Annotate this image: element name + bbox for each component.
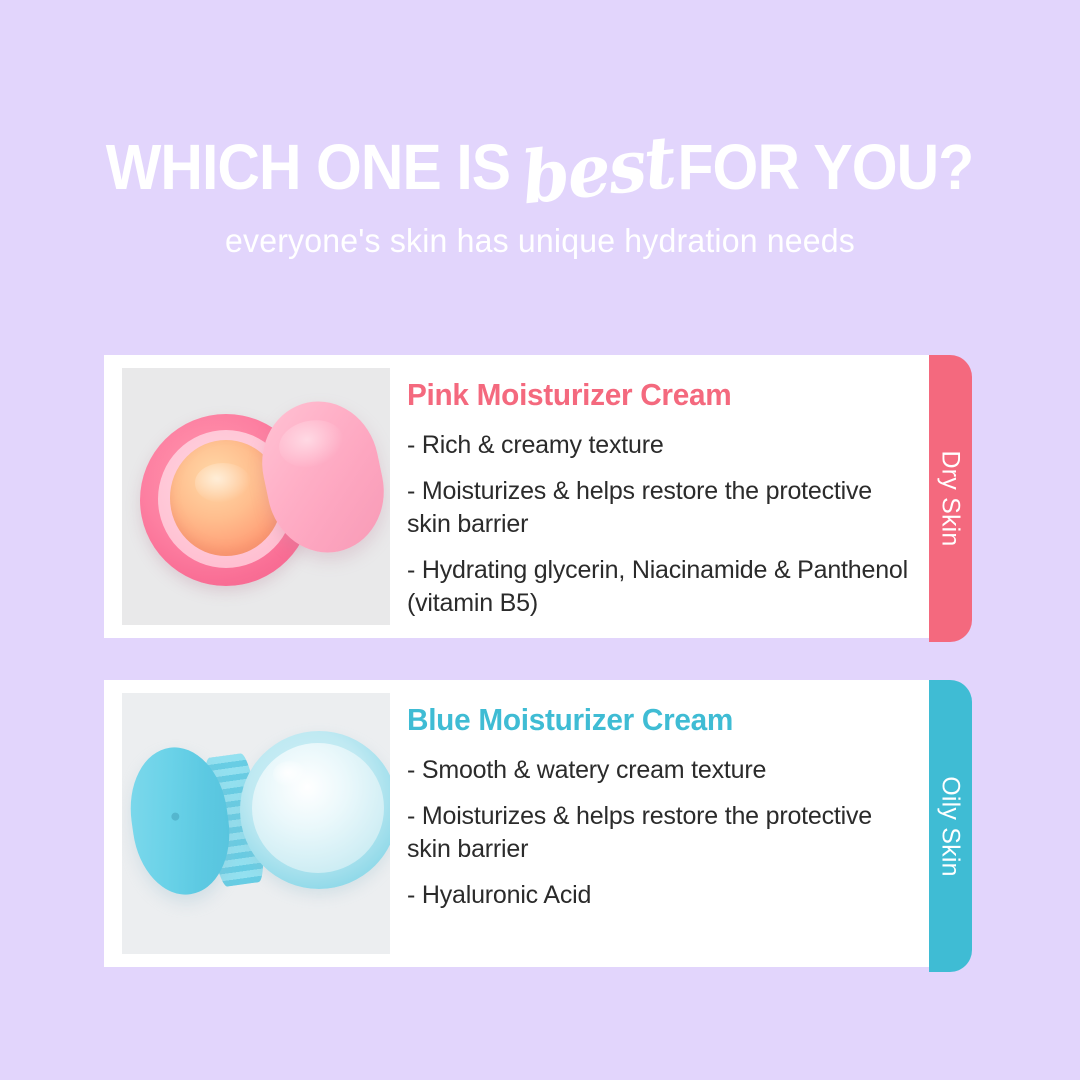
skin-type-tab-oily[interactable]: Oily Skin xyxy=(929,680,972,972)
product-bullet: - Rich & creamy texture xyxy=(407,429,911,462)
skin-type-tab-label: Oily Skin xyxy=(936,776,965,876)
product-bullet: - Moisturizes & helps restore the protec… xyxy=(407,800,911,866)
product-photo-blue xyxy=(122,693,390,954)
card-body-pink: Pink Moisturizer Cream - Rich & creamy t… xyxy=(390,355,929,633)
headline-script-word: best xyxy=(519,126,677,215)
headline-part-1: WHICH ONE IS xyxy=(106,135,510,199)
card-body-blue: Blue Moisturizer Cream - Smooth & watery… xyxy=(390,680,929,925)
product-bullet: - Moisturizes & helps restore the protec… xyxy=(407,475,911,541)
product-title-blue: Blue Moisturizer Cream xyxy=(407,702,891,738)
blue-jar-gel xyxy=(252,743,384,873)
pink-jar-illustration xyxy=(122,368,390,625)
blue-jar-illustration xyxy=(122,693,390,954)
product-bullet: - Hydrating glycerin, Niacinamide & Pant… xyxy=(407,554,911,620)
product-card-pink[interactable]: Pink Moisturizer Cream - Rich & creamy t… xyxy=(104,355,929,638)
product-title-pink: Pink Moisturizer Cream xyxy=(407,377,891,413)
product-bullet: - Smooth & watery cream texture xyxy=(407,754,911,787)
header: WHICH ONE ISbestFOR YOU? everyone's skin… xyxy=(0,128,1080,260)
product-card-blue[interactable]: Blue Moisturizer Cream - Smooth & watery… xyxy=(104,680,929,967)
product-bullet: - Hyaluronic Acid xyxy=(407,879,911,912)
headline-part-2: FOR YOU? xyxy=(678,135,974,199)
page-subtitle: everyone's skin has unique hydration nee… xyxy=(16,222,1064,260)
skin-type-tab-label: Dry Skin xyxy=(936,450,965,546)
product-photo-pink xyxy=(122,368,390,625)
skin-type-tab-dry[interactable]: Dry Skin xyxy=(929,355,972,642)
page-headline: WHICH ONE ISbestFOR YOU? xyxy=(106,128,974,200)
